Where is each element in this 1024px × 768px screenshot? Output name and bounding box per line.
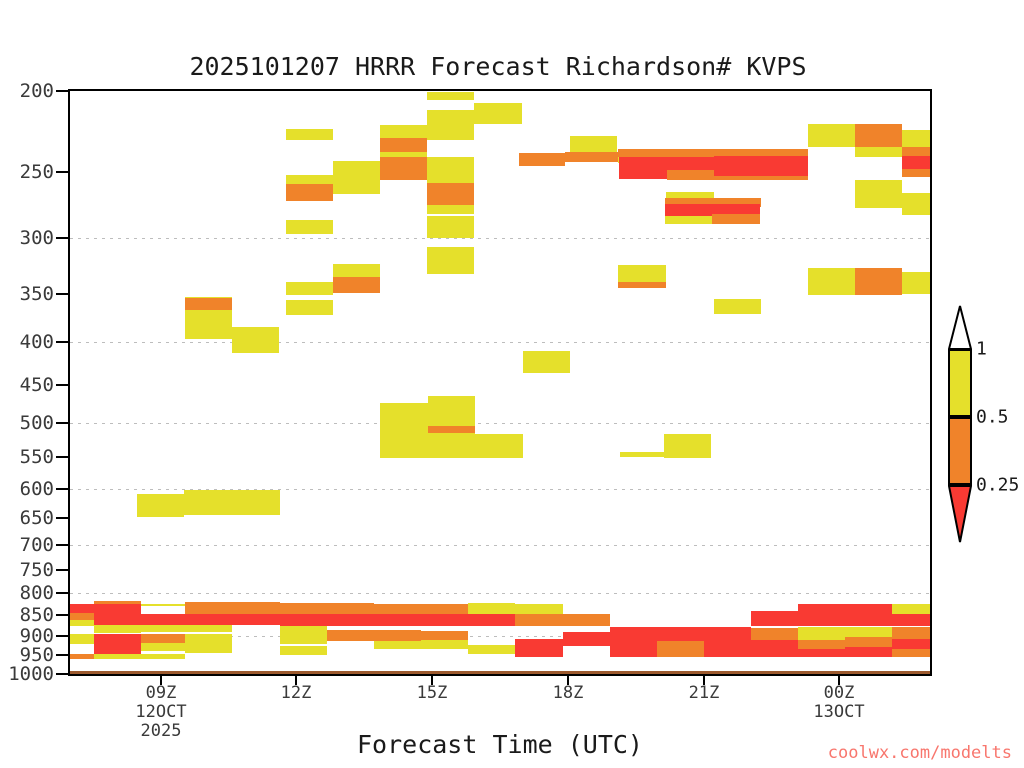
y-axis-tick — [56, 517, 68, 519]
plot-clip — [70, 91, 930, 674]
heatmap-cell — [280, 626, 327, 634]
heatmap-cell — [468, 645, 515, 654]
heatmap-cell — [141, 614, 185, 625]
heatmap-cell — [141, 643, 185, 651]
y-axis-label: 650 — [20, 507, 54, 529]
heatmap-cell — [286, 129, 333, 140]
heatmap-cell — [232, 327, 279, 353]
heatmap-cell — [665, 216, 712, 224]
heatmap-cell — [286, 220, 333, 234]
heatmap-cell — [892, 614, 930, 626]
x-axis-label: 00Z13OCT — [813, 684, 864, 722]
y-axis-label: 350 — [20, 283, 54, 305]
heatmap-cell — [374, 604, 421, 614]
heatmap-cell — [421, 614, 468, 626]
gridline — [70, 423, 930, 424]
heatmap-cell — [185, 614, 232, 625]
heatmap-cell — [515, 639, 563, 651]
x-axis-label: 18Z — [553, 684, 584, 703]
heatmap-cell — [185, 634, 232, 645]
x-axis-label: 21Z — [689, 684, 720, 703]
colorbar-label: 0.5 — [976, 407, 1009, 428]
heatmap-cell — [94, 625, 141, 633]
x-axis-label-time: 12Z — [281, 684, 312, 703]
y-axis-tick — [56, 422, 68, 424]
heatmap-cell — [70, 620, 94, 626]
colorbar-segment-yellow — [948, 349, 972, 417]
heatmap-cell — [141, 604, 185, 606]
y-axis-tick — [56, 488, 68, 490]
heatmap-cell — [515, 614, 563, 626]
heatmap-cell — [280, 614, 327, 626]
heatmap-cell — [286, 184, 333, 201]
heatmap-cell — [902, 130, 930, 147]
y-axis-tick — [56, 341, 68, 343]
heatmap-cell — [618, 265, 666, 282]
heatmap-cell — [428, 434, 523, 458]
heatmap-cell — [280, 646, 327, 655]
footer-credit: coolwx.com/modelts — [0, 743, 1012, 763]
heatmap-cell — [185, 645, 232, 653]
y-axis-tick — [56, 654, 68, 656]
gridline — [70, 593, 930, 594]
heatmap-cell — [94, 654, 185, 659]
heatmap-cell — [751, 611, 798, 626]
y-axis-tick — [56, 237, 68, 239]
y-axis-tick — [56, 293, 68, 295]
heatmap-cell — [427, 205, 474, 214]
heatmap-cell — [523, 351, 570, 373]
heatmap-cell — [902, 147, 930, 156]
heatmap-cell — [374, 641, 421, 649]
y-axis-tick — [56, 171, 68, 173]
heatmap-cell — [185, 602, 232, 614]
heatmap-cell — [280, 603, 327, 614]
heatmap-cell — [137, 494, 184, 517]
heatmap-cell — [468, 614, 515, 626]
y-axis-label: 1000 — [8, 663, 54, 685]
heatmap-cell — [714, 156, 808, 176]
y-axis-label: 400 — [20, 331, 54, 353]
heatmap-cell — [892, 649, 930, 657]
heatmap-cell — [327, 603, 374, 614]
heatmap-cell — [892, 604, 930, 614]
heatmap-cell — [380, 403, 429, 458]
y-axis-label: 800 — [20, 582, 54, 604]
gridline — [70, 342, 930, 343]
heatmap-cell — [664, 434, 711, 458]
y-axis-label: 250 — [20, 161, 54, 183]
heatmap-cell — [427, 216, 474, 238]
heatmap-cell — [333, 264, 380, 277]
heatmap-cell — [94, 634, 141, 654]
heatmap-cell — [798, 604, 845, 614]
colorbar-lower-arrow — [948, 485, 972, 543]
plot-area — [68, 89, 932, 676]
heatmap-cell — [845, 604, 892, 626]
heatmap-cell — [845, 637, 892, 647]
heatmap-cell — [751, 628, 798, 640]
gridline — [70, 545, 930, 546]
x-axis-label: 15Z — [417, 684, 448, 703]
y-axis-label: 700 — [20, 534, 54, 556]
heatmap-cell — [70, 654, 94, 659]
y-axis-tick — [56, 614, 68, 616]
y-axis-tick — [56, 544, 68, 546]
heatmap-cell — [610, 627, 657, 641]
y-axis-tick — [56, 384, 68, 386]
heatmap-cell — [427, 110, 474, 140]
heatmap-cell — [657, 641, 704, 657]
heatmap-cell — [565, 152, 618, 162]
y-axis-tick — [56, 456, 68, 458]
heatmap-cell — [620, 452, 667, 457]
heatmap-cell — [714, 299, 761, 314]
heatmap-cell — [563, 614, 610, 626]
heatmap-cell — [845, 627, 892, 637]
heatmap-cell — [563, 632, 610, 646]
heatmap-cell — [70, 604, 94, 613]
heatmap-cell — [374, 614, 421, 626]
y-axis-label: 750 — [20, 559, 54, 581]
heatmap-cell — [902, 156, 930, 169]
heatmap-cell — [428, 396, 475, 426]
heatmap-cell — [808, 275, 855, 295]
heatmap-cell — [380, 157, 427, 180]
heatmap-cell — [855, 147, 902, 157]
heatmap-cell — [427, 92, 474, 100]
heatmap-cell — [141, 625, 232, 632]
heatmap-cell — [798, 614, 845, 626]
heatmap-cell — [286, 175, 333, 184]
heatmap-cell — [185, 310, 232, 339]
y-axis-label: 300 — [20, 227, 54, 249]
heatmap-cell — [421, 631, 468, 640]
heatmap-cell — [892, 627, 930, 639]
chart-title: 2025101207 HRRR Forecast Richardson# KVP… — [0, 52, 1024, 81]
heatmap-cell — [798, 627, 845, 640]
terrain-surface — [70, 671, 930, 674]
x-axis-label-time: 00Z — [813, 684, 864, 703]
heatmap-cell — [751, 640, 798, 657]
heatmap-cell — [798, 649, 845, 657]
heatmap-cell — [327, 614, 374, 626]
heatmap-cell — [232, 602, 280, 614]
heatmap-cell — [902, 272, 930, 294]
heatmap-cell — [333, 277, 380, 293]
colorbar-label: 1 — [976, 339, 987, 360]
colorbar-segment-orange — [948, 417, 972, 485]
heatmap-cell — [184, 490, 280, 515]
heatmap-cell — [286, 300, 333, 315]
heatmap-cell — [610, 641, 657, 657]
x-axis-label-date: 13OCT — [813, 703, 864, 722]
y-axis-label: 200 — [20, 80, 54, 102]
x-axis-label: 12Z — [281, 684, 312, 703]
heatmap-cell — [70, 634, 94, 644]
heatmap-cell — [845, 647, 892, 657]
y-axis-tick — [56, 635, 68, 637]
heatmap-cell — [468, 603, 515, 614]
x-axis-label-time: 21Z — [689, 684, 720, 703]
y-axis-tick — [56, 592, 68, 594]
heatmap-cell — [519, 153, 565, 166]
colorbar-upper-arrow — [948, 305, 972, 349]
colorbar-label: 0.25 — [976, 475, 1019, 496]
heatmap-cell — [474, 103, 522, 124]
heatmap-cell — [798, 640, 845, 649]
heatmap-cell — [855, 180, 902, 208]
heatmap-cell — [232, 614, 280, 625]
heatmap-cell — [704, 627, 751, 657]
y-axis-tick — [56, 90, 68, 92]
x-axis-label-date: 12OCT — [135, 703, 186, 722]
heatmap-cell — [515, 651, 563, 657]
heatmap-cell — [892, 639, 930, 649]
x-axis-label-time: 15Z — [417, 684, 448, 703]
heatmap-cell — [380, 125, 427, 138]
y-axis-label: 450 — [20, 374, 54, 396]
heatmap-cell — [286, 282, 333, 295]
heatmap-cell — [380, 138, 427, 152]
y-axis-label: 850 — [20, 604, 54, 626]
y-axis-tick — [56, 569, 68, 571]
heatmap-cell — [141, 634, 185, 643]
heatmap-cell — [421, 640, 468, 649]
y-axis-label: 500 — [20, 412, 54, 434]
heatmap-cell — [427, 157, 474, 183]
y-axis-label: 600 — [20, 478, 54, 500]
heatmap-cell — [808, 124, 855, 147]
heatmap-cell — [712, 214, 760, 224]
heatmap-cell — [902, 193, 930, 215]
heatmap-cell — [427, 183, 474, 205]
heatmap-cell — [618, 282, 666, 288]
heatmap-cell — [855, 124, 902, 147]
heatmap-cell — [280, 634, 327, 644]
x-axis-label-time: 18Z — [553, 684, 584, 703]
heatmap-cell — [374, 630, 421, 641]
heatmap-cell — [902, 169, 930, 177]
chart-title-text: 2025101207 HRRR Forecast Richardson# KVP… — [189, 52, 806, 81]
heatmap-cell — [333, 161, 380, 194]
heatmap-cell — [855, 268, 902, 295]
heatmap-cell — [421, 604, 468, 614]
heatmap-cell — [427, 247, 474, 274]
y-axis-label: 550 — [20, 446, 54, 468]
x-axis-label-time: 09Z — [135, 684, 186, 703]
heatmap-cell — [94, 604, 141, 625]
y-axis-tick — [56, 673, 68, 675]
gridline — [70, 238, 930, 239]
heatmap-cell — [327, 630, 374, 641]
heatmap-cell — [515, 604, 563, 614]
